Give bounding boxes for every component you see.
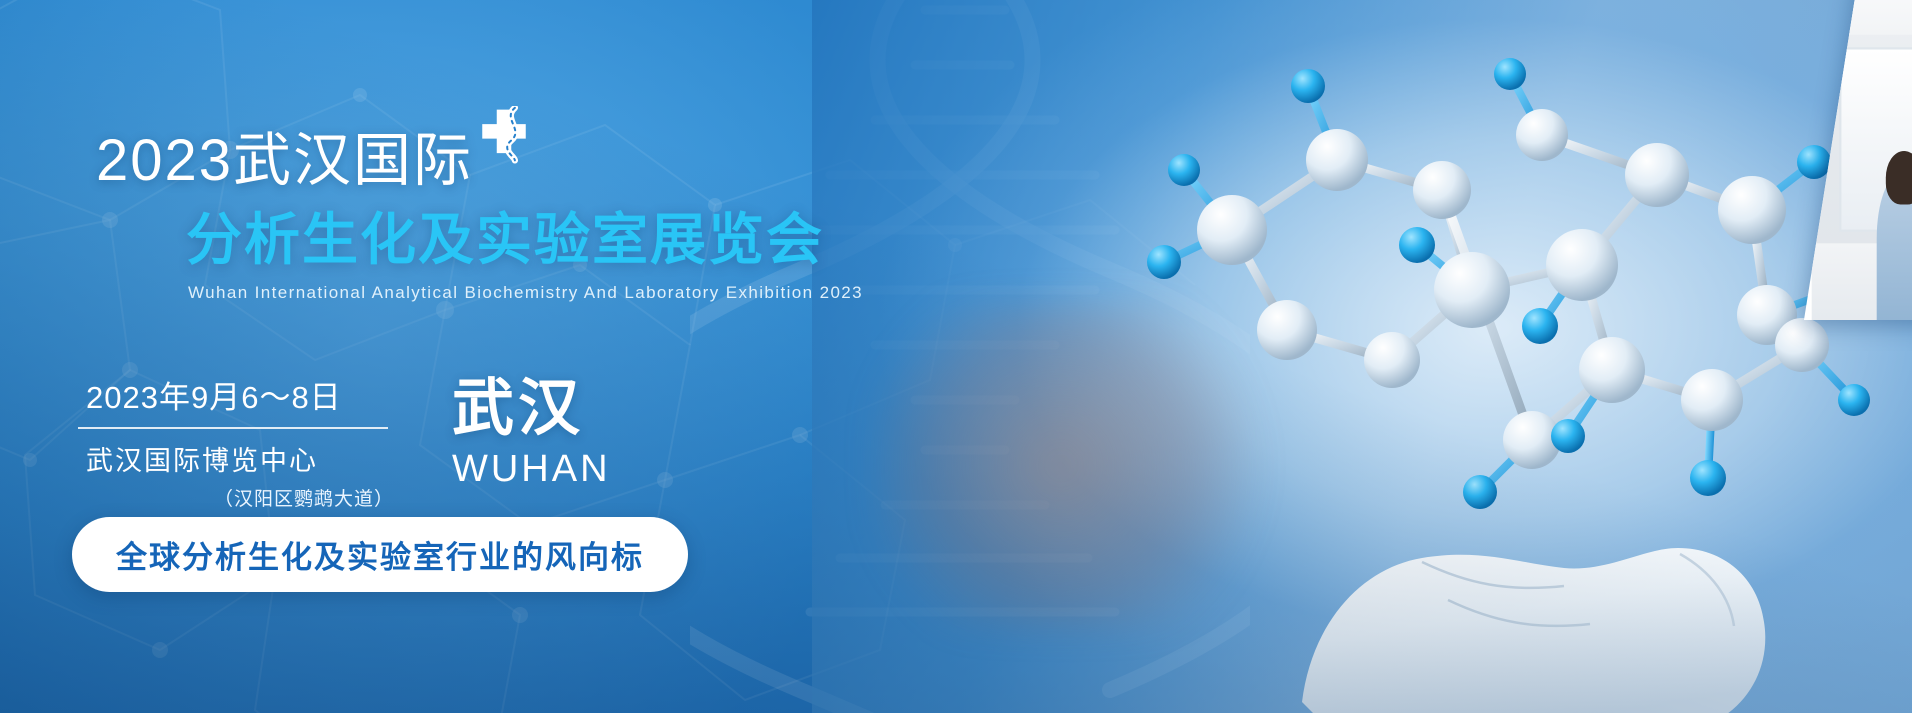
gloved-hand-holding-molecule-model-image	[812, 0, 1912, 713]
info-divider	[78, 427, 388, 429]
gloved-hand-graphic	[1272, 372, 1832, 713]
city-name-cn: 武汉	[452, 378, 611, 440]
medical-cross-dna-icon	[475, 106, 533, 164]
event-banner: 2023武汉国际 分析生化及实验室展览会 Wuhan International…	[0, 0, 1912, 713]
headline-highlight: 分析生化及实验室展览会	[186, 212, 824, 268]
event-venue: 武汉国际博览中心	[78, 439, 408, 478]
city-block: 武汉 WUHAN	[452, 378, 611, 491]
tagline-text: 全球分析生化及实验室行业的风向标	[116, 540, 644, 575]
headline-row: 2023武汉国际	[96, 132, 533, 190]
tagline-pill: 全球分析生化及实验室行业的风向标	[72, 517, 688, 592]
city-name-en: WUHAN	[452, 448, 611, 491]
banner-content: 2023武汉国际 分析生化及实验室展览会 Wuhan International…	[0, 0, 900, 713]
headline-primary: 2023武汉国际	[96, 132, 473, 190]
headline-english: Wuhan International Analytical Biochemis…	[188, 283, 863, 303]
event-date: 2023年9月6～8日	[78, 372, 408, 417]
event-venue-detail: （汉阳区鹦鹉大道）	[78, 484, 408, 511]
event-info-block: 2023年9月6～8日 武汉国际博览中心 （汉阳区鹦鹉大道）	[78, 372, 408, 511]
photo-zone	[812, 0, 1912, 713]
